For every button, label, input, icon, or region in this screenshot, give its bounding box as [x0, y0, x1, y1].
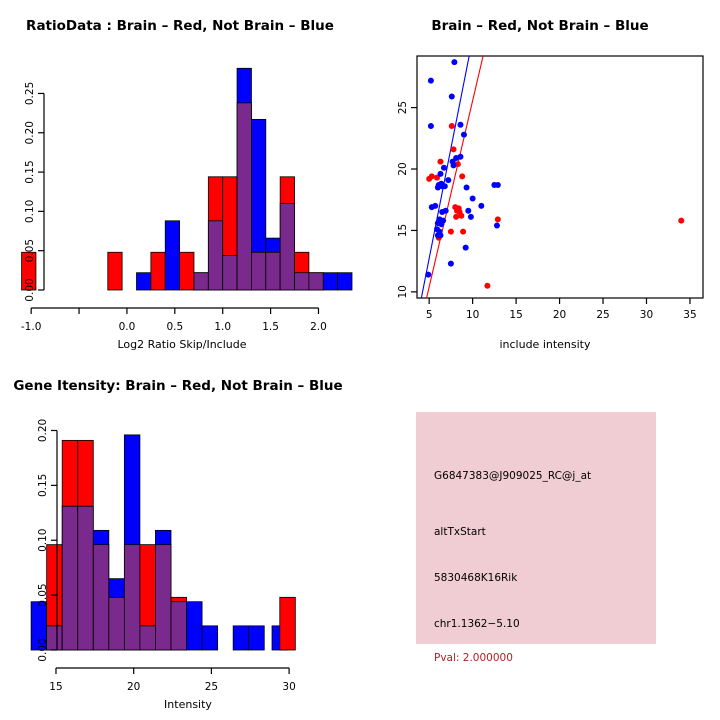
histogram-bar: [187, 602, 203, 650]
scatter-point: [464, 184, 470, 190]
histogram-bar: [233, 626, 249, 650]
scatter-point: [435, 184, 441, 190]
histogram-bar: [280, 597, 296, 650]
scatter-point: [459, 173, 465, 179]
histogram-bar-overlap: [62, 506, 78, 650]
scatter-point: [448, 229, 454, 235]
x-axis-tick-label: -1.0: [21, 321, 42, 333]
y-axis-tick-label: 0.15: [37, 474, 49, 497]
scatter-point: [458, 213, 464, 219]
gene-intensity-plot-area: 0.000.050.100.150.2015202530: [31, 419, 296, 693]
intensity-scatter-svg: Brain – Red, Not Brain – Blue 1015202551…: [360, 0, 720, 360]
x-axis-tick-label: 5: [426, 309, 433, 321]
scatter-point: [468, 214, 474, 220]
scatter-point: [495, 182, 501, 188]
histogram-bar-overlap: [78, 506, 94, 650]
x-axis-tick-label: 10: [466, 309, 479, 321]
x-axis-tick-label: 25: [205, 681, 218, 693]
scatter-point: [457, 154, 463, 160]
scatter-point: [437, 159, 443, 165]
panel-gene-intensity-histogram: Gene Itensity: Brain – Red, Not Brain – …: [0, 360, 360, 720]
scatter-point: [470, 195, 476, 201]
scatter-point: [432, 203, 438, 209]
ratio-histogram-xlabel: Log2 Ratio Skip/Include: [117, 338, 246, 351]
figure-canvas: RatioData : Brain – Red, Not Brain – Blu…: [0, 0, 720, 720]
y-axis-tick-label: 0.15: [24, 160, 36, 183]
y-axis-tick-label: 0.00: [24, 278, 36, 301]
y-axis-tick-label: 0.00: [37, 638, 49, 661]
histogram-bar-overlap: [223, 255, 237, 290]
scatter-point: [465, 208, 471, 214]
histogram-bar-overlap: [155, 545, 171, 650]
scatter-point: [461, 132, 467, 138]
histogram-bar: [202, 626, 218, 650]
histogram-bar-overlap: [194, 273, 208, 290]
scatter-point: [448, 261, 454, 267]
scatter-point: [425, 272, 431, 278]
histogram-bar-overlap: [266, 252, 280, 290]
x-axis-tick-label: 20: [127, 681, 140, 693]
scatter-point: [449, 123, 455, 129]
histogram-bar: [137, 273, 151, 290]
histogram-bar-overlap: [295, 273, 309, 290]
histogram-bar: [165, 221, 179, 290]
histogram-bar-overlap: [237, 103, 251, 290]
x-axis-tick-label: 35: [683, 309, 696, 321]
y-axis-tick-label: 10: [397, 285, 409, 298]
histogram-bar-overlap: [280, 204, 294, 290]
gene-intensity-xlabel: Intensity: [164, 698, 212, 711]
y-axis-tick-label: 0.10: [24, 200, 36, 223]
histogram-bar-overlap: [140, 626, 156, 650]
scatter-point: [442, 183, 448, 189]
gene-info-line-1: G6847383@J909025_RC@j_at: [434, 470, 591, 482]
y-axis-tick-label: 20: [397, 162, 409, 175]
x-axis-tick-label: 1.5: [262, 321, 279, 333]
scatter-point: [457, 122, 463, 128]
y-axis-tick-label: 15: [397, 224, 409, 237]
histogram-bar-overlap: [309, 273, 323, 290]
scatter-point: [460, 229, 466, 235]
scatter-point: [453, 214, 459, 220]
scatter-point: [443, 208, 449, 214]
gene-info-line-5: Pval: 2.000000: [434, 652, 513, 664]
x-axis-tick-label: 15: [49, 681, 62, 693]
gene-info-line-2: altTxStart: [434, 526, 486, 538]
scatter-point: [428, 123, 434, 129]
ratio-histogram-title: RatioData : Brain – Red, Not Brain – Blu…: [26, 18, 334, 34]
y-axis-tick-label: 25: [397, 101, 409, 114]
panel-intensity-scatter: Brain – Red, Not Brain – Blue 1015202551…: [360, 0, 720, 360]
panel-ratio-histogram: RatioData : Brain – Red, Not Brain – Blu…: [0, 0, 360, 360]
scatter-point: [437, 171, 443, 177]
y-axis-tick-label: 0.10: [37, 529, 49, 552]
histogram-bar: [323, 273, 337, 290]
gene-info-line-4: chr1.1362−5.10: [434, 618, 520, 630]
scatter-point: [429, 173, 435, 179]
ratio-histogram-plot-area: 0.000.050.100.150.200.25-1.00.00.51.01.5…: [21, 68, 352, 333]
scatter-point: [449, 94, 455, 100]
histogram-bar: [151, 252, 165, 290]
scatter-point: [484, 283, 490, 289]
scatter-point: [495, 216, 501, 222]
intensity-scatter-title: Brain – Red, Not Brain – Blue: [431, 18, 648, 34]
y-axis-tick-label: 0.20: [37, 419, 49, 442]
x-axis-tick-label: 30: [640, 309, 653, 321]
intensity-scatter-xlabel: include intensity: [499, 338, 591, 351]
scatter-point: [463, 245, 469, 251]
scatter-point: [494, 223, 500, 229]
x-axis-tick-label: 25: [596, 309, 609, 321]
scatter-point: [445, 177, 451, 183]
scatter-point: [441, 165, 447, 171]
scatter-point: [451, 146, 457, 152]
gene-info-box: G6847383@J909025_RC@j_ataltTxStart583046…: [416, 412, 656, 644]
histogram-bar: [338, 273, 352, 290]
scatter-point: [451, 162, 457, 168]
histogram-bar-overlap: [109, 597, 125, 650]
histogram-bar: [108, 252, 122, 290]
scatter-point: [437, 232, 443, 238]
x-axis-tick-label: 1.0: [214, 321, 231, 333]
x-axis-tick-label: 30: [282, 681, 295, 693]
intensity-scatter-plot-area: 101520255101520253035: [397, 56, 703, 321]
x-axis-tick-label: 0.5: [166, 321, 183, 333]
scatter-point: [428, 78, 434, 84]
histogram-bar: [249, 626, 265, 650]
gene-intensity-histogram-title: Gene Itensity: Brain – Red, Not Brain – …: [13, 378, 342, 394]
y-axis-tick-label: 0.20: [24, 121, 36, 144]
x-axis-tick-label: 2.0: [310, 321, 327, 333]
scatter-point: [478, 203, 484, 209]
histogram-bar-overlap: [171, 602, 187, 650]
scatter-point: [456, 205, 462, 211]
histogram-bar-overlap: [93, 545, 109, 650]
x-axis-tick-label: 20: [553, 309, 566, 321]
y-axis-tick-label: 0.25: [24, 82, 36, 105]
scatter-point: [451, 59, 457, 65]
ratio-histogram-svg: RatioData : Brain – Red, Not Brain – Blu…: [0, 0, 360, 360]
histogram-bar: [180, 252, 194, 290]
histogram-bar-overlap: [208, 221, 222, 290]
gene-intensity-histogram-svg: Gene Itensity: Brain – Red, Not Brain – …: [0, 360, 360, 720]
scatter-point: [678, 218, 684, 224]
y-axis-tick-label: 0.05: [24, 239, 36, 262]
x-axis-tick-label: 15: [509, 309, 522, 321]
histogram-bar-overlap: [251, 252, 265, 290]
histogram-bar-overlap: [124, 545, 140, 650]
gene-info-line-3: 5830468K16Rik: [434, 572, 517, 584]
x-axis-tick-label: 0.0: [119, 321, 136, 333]
scatter-point: [438, 221, 444, 227]
panel-gene-info: G6847383@J909025_RC@j_ataltTxStart583046…: [360, 360, 720, 720]
y-axis-tick-label: 0.05: [37, 583, 49, 606]
